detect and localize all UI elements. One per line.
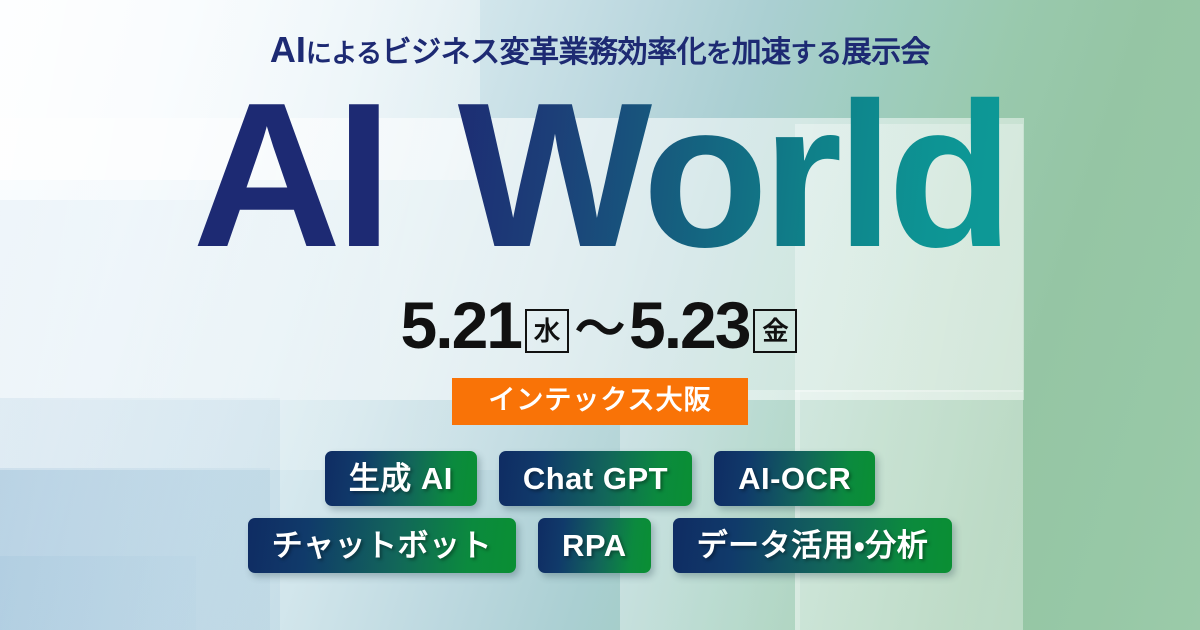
date-end: 5.23: [629, 292, 749, 358]
topic-tag-list: 生成 AI Chat GPT AI-OCR チャットボット RPA データ活用・…: [248, 451, 952, 573]
topic-tag[interactable]: AI-OCR: [714, 451, 875, 506]
date-start-weekday: 水: [525, 309, 569, 353]
logo-part-world: World: [458, 60, 1008, 290]
date-end-weekday: 金: [753, 309, 797, 353]
topic-tag-row-2: チャットボット RPA データ活用・分析: [248, 518, 952, 573]
event-banner: AIによるビジネス変革業務効率化を加速する展示会 AI World 5.21 水…: [0, 0, 1200, 630]
topic-tag[interactable]: RPA: [538, 518, 651, 573]
banner-content: AIによるビジネス変革業務効率化を加速する展示会 AI World 5.21 水…: [0, 0, 1200, 630]
date-start: 5.21: [401, 292, 521, 358]
date-separator: 〜: [575, 304, 625, 354]
topic-tag[interactable]: データ活用・分析: [673, 518, 953, 573]
topic-tag-row-1: 生成 AI Chat GPT AI-OCR: [325, 451, 876, 506]
venue-badge: インテックス大阪: [452, 378, 747, 425]
logo-spacer: [386, 60, 457, 290]
topic-tag[interactable]: Chat GPT: [499, 451, 692, 506]
logo-part-ai: AI: [192, 60, 386, 290]
event-date: 5.21 水 〜 5.23 金: [401, 292, 800, 358]
event-logo: AI World: [192, 72, 1007, 278]
topic-tag[interactable]: 生成 AI: [325, 451, 477, 506]
topic-tag[interactable]: チャットボット: [248, 518, 516, 573]
